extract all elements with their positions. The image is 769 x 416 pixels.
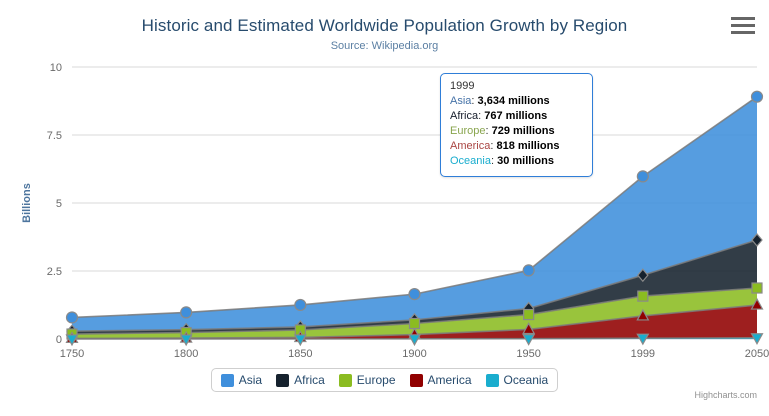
tooltip-row-oceania: Oceania: 30 millions (450, 154, 583, 169)
tooltip-series-value: 767 millions (484, 110, 547, 122)
data-point-europe-1950[interactable] (524, 310, 534, 320)
x-axis-tick-label: 1850 (288, 348, 312, 360)
legend-swatch-icon (486, 374, 499, 387)
data-point-asia-1850[interactable] (295, 299, 306, 310)
data-point-europe-1900[interactable] (410, 318, 420, 328)
tooltip-series-name: Asia (450, 95, 471, 107)
data-point-europe-2050[interactable] (752, 283, 762, 293)
y-axis-tick-label: 10 (50, 62, 62, 74)
highcharts-container: Historic and Estimated Worldwide Populat… (0, 0, 769, 416)
data-point-asia-1950[interactable] (523, 265, 534, 276)
tooltip-row-asia: Asia: 3,634 millions (450, 94, 583, 109)
legend-swatch-icon (339, 374, 352, 387)
y-axis-title: Billions (21, 183, 33, 223)
legend-label: Africa (294, 373, 325, 387)
legend-item-oceania[interactable]: Oceania (486, 373, 549, 387)
legend-item-europe[interactable]: Europe (339, 373, 396, 387)
legend-swatch-icon (221, 374, 234, 387)
chart-tooltip: 1999 Asia: 3,634 millionsAfrica: 767 mil… (440, 73, 593, 177)
data-point-asia-1999[interactable] (637, 171, 648, 182)
data-point-asia-2050[interactable] (752, 91, 763, 102)
x-axis-tick-label: 1750 (60, 348, 84, 360)
legend-swatch-icon (410, 374, 423, 387)
tooltip-row-europe: Europe: 729 millions (450, 124, 583, 139)
data-point-asia-1900[interactable] (409, 289, 420, 300)
legend-label: America (428, 373, 472, 387)
chart-legend: AsiaAfricaEuropeAmericaOceania (0, 368, 769, 392)
data-point-oceania-1950[interactable] (523, 335, 534, 345)
y-axis-tick-label: 0 (56, 334, 62, 346)
data-point-asia-1800[interactable] (181, 307, 192, 318)
legend-label: Europe (357, 373, 396, 387)
legend-swatch-icon (276, 374, 289, 387)
y-axis-tick-label: 7.5 (47, 130, 62, 142)
tooltip-header: 1999 (450, 80, 583, 92)
tooltip-series-value: 729 millions (492, 125, 555, 137)
tooltip-series-value: 30 millions (497, 155, 554, 167)
tooltip-row-america: America: 818 millions (450, 139, 583, 154)
legend-item-africa[interactable]: Africa (276, 373, 325, 387)
x-axis-tick-label: 1800 (174, 348, 198, 360)
tooltip-row-africa: Africa: 767 millions (450, 109, 583, 124)
legend-label: Oceania (504, 373, 549, 387)
tooltip-series-value: 818 millions (496, 140, 559, 152)
tooltip-series-name: Africa (450, 110, 478, 122)
legend-item-america[interactable]: America (410, 373, 472, 387)
x-axis-tick-label: 1900 (402, 348, 426, 360)
tooltip-series-name: Oceania (450, 155, 491, 167)
x-axis-tick-label: 2050 (745, 348, 769, 360)
data-point-europe-1999[interactable] (638, 291, 648, 301)
legend-label: Asia (239, 373, 262, 387)
y-axis-tick-label: 2.5 (47, 266, 62, 278)
chart-plot-area: 02.557.510Billions1750180018501900195019… (0, 0, 769, 416)
x-axis-tick-label: 1999 (631, 348, 655, 360)
x-axis-tick-label: 1950 (516, 348, 540, 360)
tooltip-series-name: America (450, 140, 490, 152)
tooltip-series-value: 3,634 millions (478, 95, 550, 107)
data-point-oceania-1900[interactable] (409, 335, 420, 345)
data-point-asia-1750[interactable] (67, 312, 78, 323)
tooltip-series-name: Europe (450, 125, 485, 137)
legend-item-asia[interactable]: Asia (221, 373, 262, 387)
y-axis-tick-label: 5 (56, 198, 62, 210)
